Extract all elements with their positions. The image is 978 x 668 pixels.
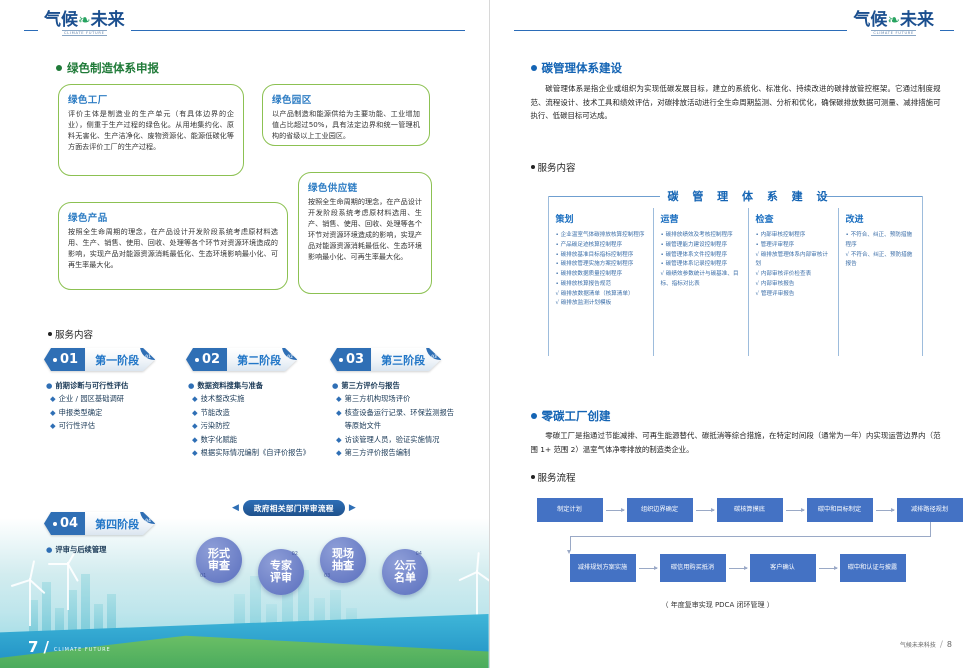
cm-item-list: • 企业温室气体碳排放核算控制程序 • 产品碳足迹核算控制程序 • 碳排放基准目… [556,231,650,309]
phase-tag: 02 第二阶段 02 [186,348,316,371]
cm-column-improve: 改进 • 不符合、纠正、预防措施程序 √ 不符合、纠正、预防措施报告 [846,212,916,270]
subheading-text: 服务流程 [538,470,576,484]
list-item: ◆污染防控 [192,419,316,432]
flow-box-r1-5: 减排路径规划 [897,498,963,522]
leaf-icon: ❧ [887,11,900,29]
footer-mark: CLIMATE FUTURE [54,647,111,656]
phase-label: 第四阶段 04 [85,512,155,535]
phase-item-list: ●前期诊断与可行性评估 ◆企业 / 园区基础调研 ◆申报类型确定 ◆可行性评估 [50,379,172,433]
phase-tag: 03 第三阶段 03 [330,348,456,371]
footer-right: 气候未来科技 / 8 [900,640,952,650]
phase-number: 01 [44,348,85,371]
list-item: ◆根据实际情况编制《自评价报告》 [192,446,316,459]
logo-subtitle: CLIMATE FUTURE [871,30,916,36]
logo-wordmark: 气候❧未来 [853,11,934,29]
list-item: ◆第三方评价报告编制 [336,446,456,459]
cm-column-planning: 策划 • 企业温室气体碳排放核算控制程序 • 产品碳足迹核算控制程序 • 碳排放… [556,212,650,309]
list-item: • 企业温室气体碳排放核算控制程序 [556,231,650,241]
corner-number: 03 [426,343,442,360]
list-item: √ 碳排放数据清单（核算清单） [556,290,650,300]
logo-subtitle: CLIMATE FUTURE [62,30,107,36]
flow-arrow [606,510,624,511]
subheading-text: 服务内容 [538,160,576,174]
card-body: 按照全生命周期的理念，在产品设计开发阶段系统考虑原材料选用、生产、销售、使用、回… [68,227,278,271]
step-number: 02 [292,552,298,557]
list-item: • 碳排放绩效及考核控制程序 [661,231,741,241]
section-heading-text: 碳管理体系建设 [542,60,623,76]
page-number: 7 [28,638,38,656]
arrow-left-icon: ◀ [232,504,239,513]
bullet-dot-icon [531,165,535,169]
phase-number: 03 [330,348,371,371]
phase-card-03: 03 第三阶段 03 ●第三方评价与报告 ◆第三方机构现场评价 ◆核查设备运行记… [330,348,456,460]
flow-box-r1-2: 组织边界确定 [627,498,693,522]
flow-connector-arrow [570,536,571,550]
subheading-service-content-left: 服务内容 [48,327,93,341]
flow-arrow [876,510,894,511]
corner-number: 02 [282,343,298,360]
cm-column-header: 策划 [556,212,650,225]
cm-column-header: 运营 [661,212,741,225]
cm-column-operation: 运营 • 碳排放绩效及考核控制程序 • 碳管理能力建设控制程序 • 碳管理体系文… [661,212,741,290]
gov-step-01: 形式 审查 01 [196,537,242,583]
logo-wordmark: 气候❧未来 [44,11,125,29]
subheading-service-content-right: 服务内容 [531,160,576,174]
list-item: ●第三方评价与报告 [332,379,456,392]
section-heading-zero-carbon: 零碳工厂创建 [531,408,611,424]
gov-review-flow-header: ◀ 政府相关部门评审流程 ▶ [232,500,356,516]
list-item: ●数据资料搜集与准备 [188,379,316,392]
card-green-product: 绿色产品 按照全生命周期的理念，在产品设计开发阶段系统考虑原材料选用、生产、销售… [58,202,288,290]
step-number: 03 [324,574,330,579]
flow-box-r2-2: 碳信用购买抵消 [660,554,726,582]
cm-rule-left [548,196,660,197]
bullet-dot-icon [48,332,52,336]
card-title: 绿色供应链 [308,180,422,194]
phase-number: 02 [186,348,227,371]
list-item: • 碳管理体系记录控制程序 [661,260,741,270]
list-item: • 碳管理能力建设控制程序 [661,241,741,251]
gov-step-04: 公示 名单 04 [382,549,428,595]
footer-slash: / [940,640,943,650]
paragraph-zero-carbon: 零碳工厂是指通过节能减排、可再生能源替代、碳抵消等综合措施，在特定时间段（通常为… [531,429,941,456]
list-item: ◆第三方机构现场评价 [336,392,456,405]
section-heading-green-manufacturing: 绿色制造体系申报 [56,60,159,76]
list-item: √ 碳排放管理体系内部审核计划 [756,251,832,271]
flow-box-r1-4: 碳中和目标制定 [807,498,873,522]
city-skyline-left [29,574,116,634]
card-body: 按照全生命周期的理念，在产品设计开发阶段系统考虑原材料选用、生产、销售、使用、回… [308,197,422,263]
page-spread: 气候❧未来 CLIMATE FUTURE 绿色制造体系申报 绿色工厂 评价主体是… [0,0,978,668]
phase-label: 第三阶段 03 [371,348,441,371]
logo-right: 气候❧未来 CLIMATE FUTURE [847,11,940,36]
card-green-supply-chain: 绿色供应链 按照全生命周期的理念，在产品设计开发阶段系统考虑原材料选用、生产、销… [298,172,432,294]
card-title: 绿色产品 [68,210,278,224]
flow-arrow [729,568,747,569]
flow-arrow [786,510,804,511]
corner-number: 04 [140,507,156,524]
list-item: • 不符合、纠正、预防措施程序 [846,231,916,251]
cm-item-list: • 碳排放绩效及考核控制程序 • 碳管理能力建设控制程序 • 碳管理体系文件控制… [661,231,741,290]
cm-table-title: 碳 管 理 体 系 建 设 [668,188,833,204]
footer-left: 7 / CLIMATE FUTURE [28,638,111,656]
card-body: 以产品制造和能源供给为主要功能、工业增加值占比超过50%，具有法定边界和统一管理… [272,109,420,142]
cm-divider [653,208,654,356]
gov-step-02: 专家 评审 02 [258,549,304,595]
cm-item-list: • 内部审核控制程序 • 管理评审程序 √ 碳排放管理体系内部审核计划 √ 内部… [756,231,832,299]
flow-arrow [819,568,837,569]
phase-item-list: ●数据资料搜集与准备 ◆技术整改实施 ◆节能改造 ◆污染防控 ◆数字化赋能 ◆根… [192,379,316,460]
cm-divider [838,208,839,356]
flow-box-r2-1: 减排规划方案实施 [570,554,636,582]
phase-item-list: ●评审与后续管理 [50,543,184,556]
list-item: • 产品碳足迹核算控制程序 [556,241,650,251]
cm-rule-right [826,196,922,197]
list-item: ◆数字化赋能 [192,433,316,446]
gov-review-pill: 政府相关部门评审流程 [243,500,345,516]
phase-tag: 01 第一阶段 01 [44,348,172,371]
cm-divider [748,208,749,356]
list-item: ◆核查设备运行记录、环保监测报告等原始文件 [336,406,456,433]
list-item: √ 碳排放监测计划模板 [556,299,650,309]
flow-connector [930,522,931,536]
list-item: • 碳排放管理实施方案控制程序 [556,260,650,270]
cm-column-check: 检查 • 内部审核控制程序 • 管理评审程序 √ 碳排放管理体系内部审核计划 √… [756,212,832,299]
phase-label: 第二阶段 02 [227,348,297,371]
flow-box-r1-3: 碳核算摸底 [717,498,783,522]
list-item: √ 内部审核评价检查表 [756,270,832,280]
step-number: 01 [200,574,206,579]
bullet-dot-icon [56,65,62,71]
list-item: ◆访谈管理人员，验证实施情况 [336,433,456,446]
cm-item-list: • 不符合、纠正、预防措施程序 √ 不符合、纠正、预防措施报告 [846,231,916,270]
list-item: • 碳管理体系文件控制程序 [661,251,741,261]
card-title: 绿色工厂 [68,92,234,106]
cm-divider [548,208,549,356]
subheading-service-flow: 服务流程 [531,470,576,484]
section-heading-carbon-management: 碳管理体系建设 [531,60,623,76]
step-number: 04 [416,552,422,557]
left-page: 气候❧未来 CLIMATE FUTURE 绿色制造体系申报 绿色工厂 评价主体是… [0,0,490,668]
flow-arrow [696,510,714,511]
phase-card-04: 04 第四阶段 04 ●评审与后续管理 [44,512,184,556]
footer-slash: / [43,638,48,656]
list-item: √ 碳绩效参数统计与碳基准、目标、指标对比表 [661,270,741,290]
card-title: 绿色园区 [272,92,420,106]
phase-label: 第一阶段 01 [85,348,155,371]
leaf-icon: ❧ [78,11,91,29]
corner-number: 01 [140,343,156,360]
bullet-dot-icon [531,475,535,479]
phase-card-01: 01 第一阶段 01 ●前期诊断与可行性评估 ◆企业 / 园区基础调研 ◆申报类… [44,348,172,433]
cm-divider [922,208,923,356]
page-number: 8 [947,640,952,649]
card-green-factory: 绿色工厂 评价主体是制造业的生产单元（有具体边界的企业），侧重于生产过程的绿色化… [58,84,244,176]
cm-column-header: 改进 [846,212,916,225]
subheading-text: 服务内容 [55,327,93,341]
list-item: ●前期诊断与可行性评估 [46,379,172,392]
list-item: • 碳排放基准目标指标控制程序 [556,251,650,261]
list-item: ◆可行性评估 [50,419,172,432]
list-item: • 碳排放核算报告规范 [556,280,650,290]
flow-box-r2-4: 碳中和认证与披露 [840,554,906,582]
list-item: ◆企业 / 园区基础调研 [50,392,172,405]
flow-arrow [639,568,657,569]
section-heading-text: 绿色制造体系申报 [67,60,159,76]
arrow-right-icon: ▶ [349,504,356,513]
gov-step-03: 现场 抽查 03 [320,537,366,583]
list-item: ◆申报类型确定 [50,406,172,419]
card-green-park: 绿色园区 以产品制造和能源供给为主要功能、工业增加值占比超过50%，具有法定边界… [262,84,430,146]
list-item: ◆技术整改实施 [192,392,316,405]
list-item: √ 管理评审报告 [756,290,832,300]
bullet-dot-icon [531,65,537,71]
list-item: ◆节能改造 [192,406,316,419]
cm-column-header: 检查 [756,212,832,225]
flow-box-r1-1: 制定计划 [537,498,603,522]
list-item: • 管理评审程序 [756,241,832,251]
list-item: √ 不符合、纠正、预防措施报告 [846,251,916,271]
flow-caption: （ 年度复审实现 PDCA 闭环管理 ） [662,600,774,610]
list-item: • 碳排放数据质量控制程序 [556,270,650,280]
paragraph-carbon-management: 碳管理体系是指企业或组织为实现低碳发展目标，建立的系统化、标准化、持续改进的碳排… [531,82,941,123]
phase-number: 04 [44,512,85,535]
phase-card-02: 02 第二阶段 02 ●数据资料搜集与准备 ◆技术整改实施 ◆节能改造 ◆污染防… [186,348,316,460]
section-heading-text: 零碳工厂创建 [542,408,611,424]
list-item: ●评审与后续管理 [46,543,184,556]
footer-brand-name: 气候未来科技 [900,640,936,649]
right-page: 气候❧未来 CLIMATE FUTURE 碳管理体系建设 碳管理体系是指企业或组… [490,0,978,668]
bullet-dot-icon [531,413,537,419]
phase-tag: 04 第四阶段 04 [44,512,184,535]
phase-item-list: ●第三方评价与报告 ◆第三方机构现场评价 ◆核查设备运行记录、环保监测报告等原始… [336,379,456,460]
flow-connector [570,536,931,537]
list-item: • 内部审核控制程序 [756,231,832,241]
card-body: 评价主体是制造业的生产单元（有具体边界的企业），侧重于生产过程的绿色化。从用地集… [68,109,234,153]
logo-left: 气候❧未来 CLIMATE FUTURE [38,11,131,36]
list-item: √ 内部审核报告 [756,280,832,290]
flow-box-r2-3: 客户确认 [750,554,816,582]
